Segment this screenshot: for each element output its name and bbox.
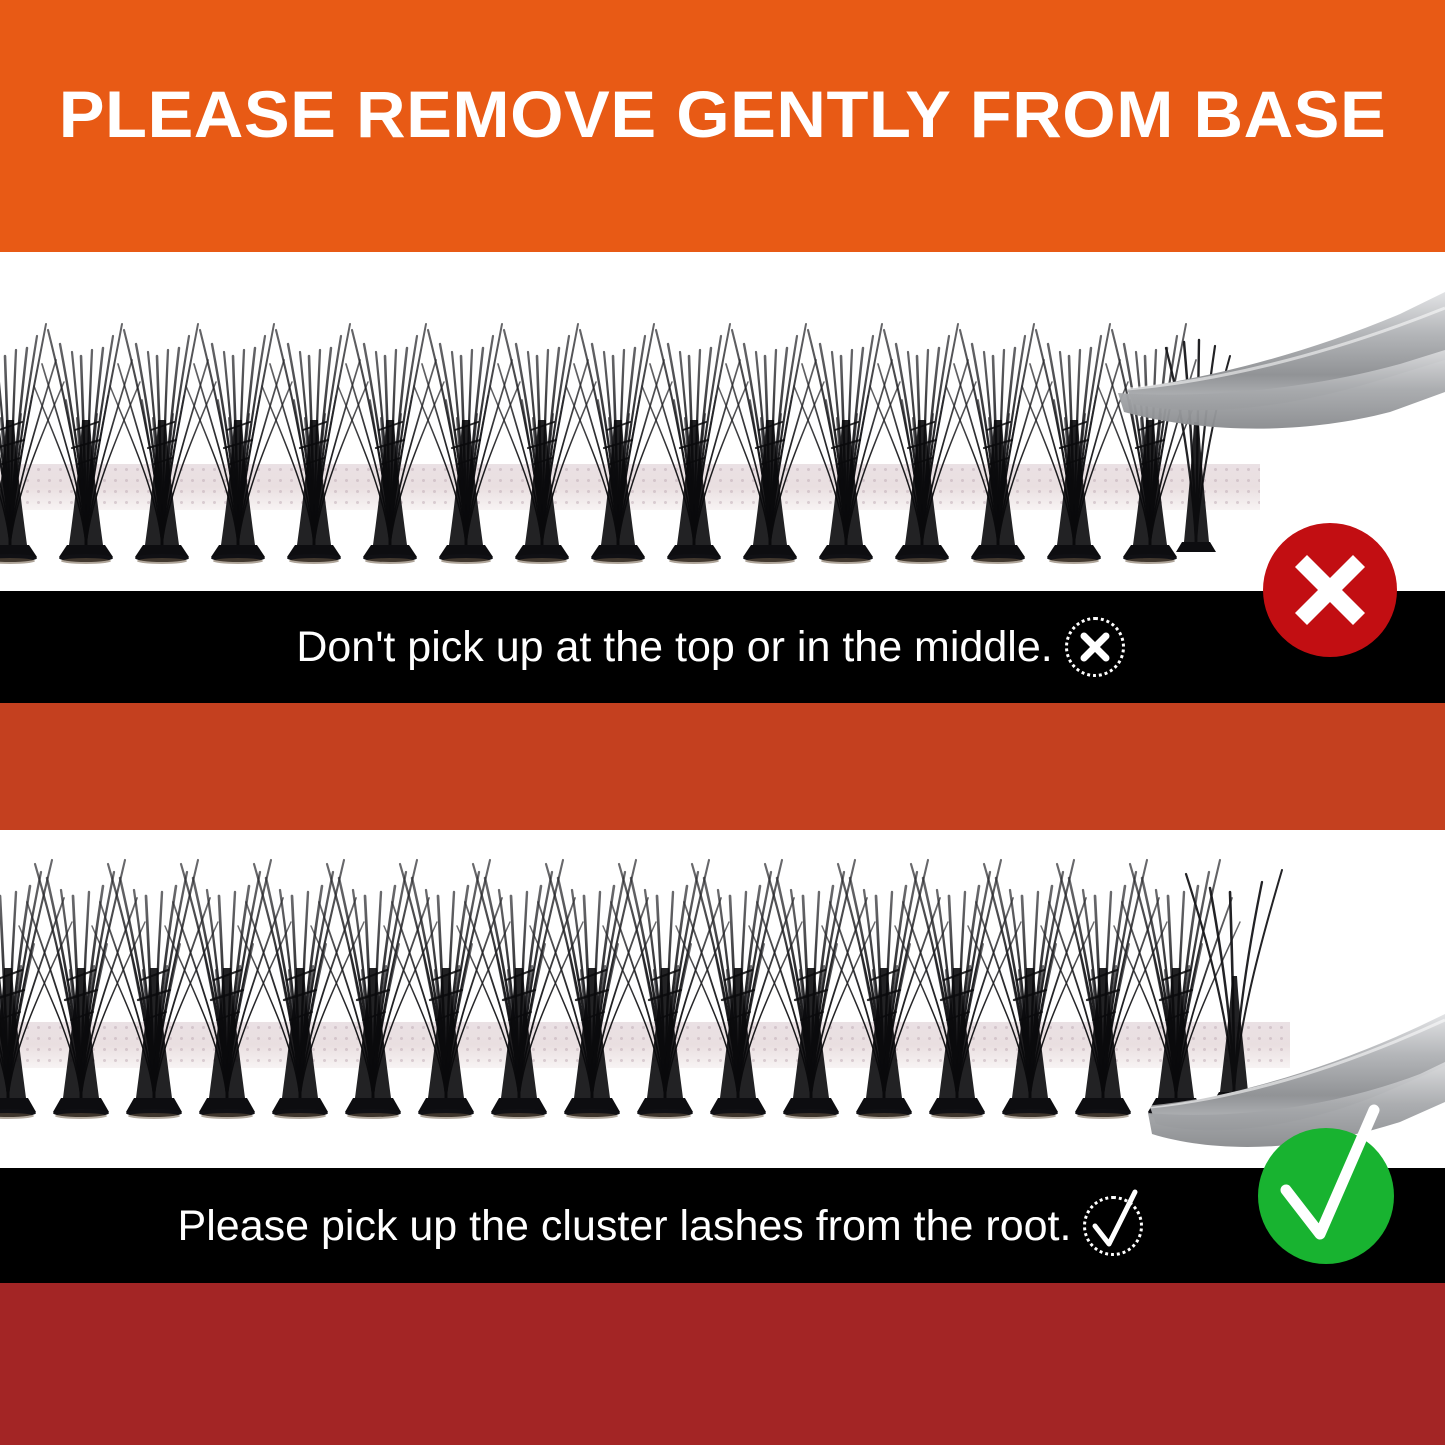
divider-band-bottom: [0, 1283, 1445, 1445]
tweezers-bottom: [0, 830, 1445, 1168]
accept-badge: [1258, 1128, 1394, 1264]
page-title: PLEASE REMOVE GENTLY FROM BASE: [0, 78, 1445, 150]
caption-bar-incorrect: Don't pick up at the top or in the middl…: [0, 591, 1445, 703]
x-mark-icon: [1263, 523, 1397, 657]
tweezers-top: [0, 252, 1445, 591]
caption-text-correct: Please pick up the cluster lashes from t…: [178, 1202, 1072, 1250]
check-mark-icon: [1258, 1128, 1394, 1264]
check-mark-icon: [1083, 1196, 1143, 1256]
caption-text-incorrect: Don't pick up at the top or in the middl…: [296, 623, 1052, 671]
reject-badge: [1263, 523, 1397, 657]
photo-incorrect-grip: [0, 252, 1445, 591]
photo-correct-grip: [0, 830, 1445, 1168]
caption-bar-correct: Please pick up the cluster lashes from t…: [0, 1168, 1445, 1283]
divider-band-middle: [0, 703, 1445, 830]
x-mark-icon: [1065, 617, 1125, 677]
instruction-card: PLEASE REMOVE GENTLY FROM BASE: [0, 0, 1445, 1445]
